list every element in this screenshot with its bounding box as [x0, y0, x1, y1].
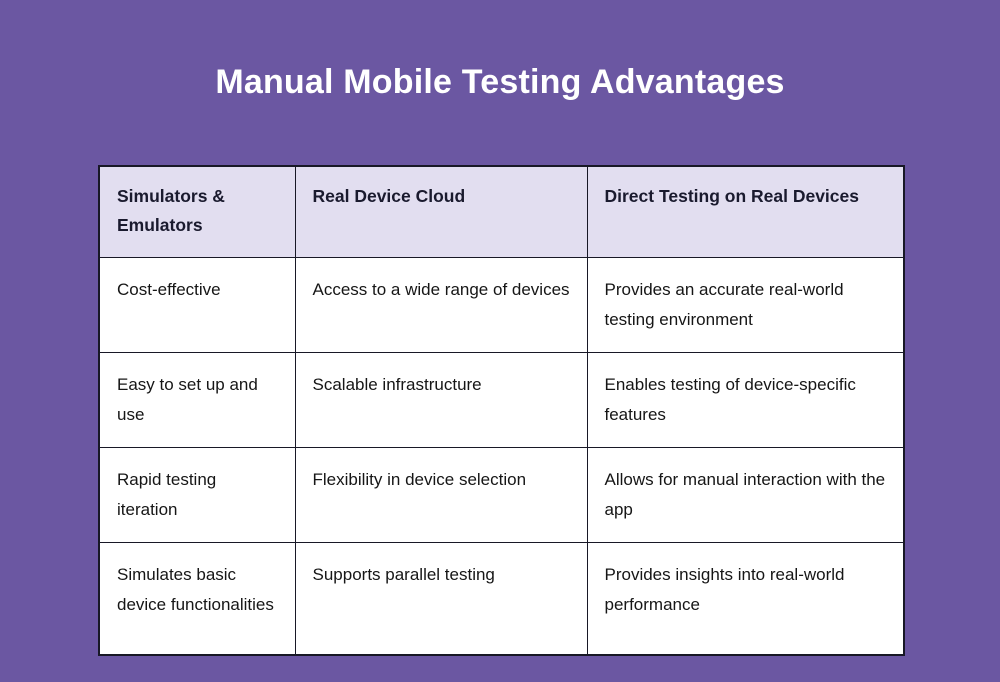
column-header-simulators-emulators: Simulators & Emulators [99, 166, 295, 258]
table-cell: Supports parallel testing [295, 543, 587, 655]
table-cell: Provides an accurate real-world testing … [587, 258, 904, 353]
column-header-direct-testing-real-devices: Direct Testing on Real Devices [587, 166, 904, 258]
advantages-table-container: Simulators & Emulators Real Device Cloud… [98, 165, 903, 656]
table-cell: Easy to set up and use [99, 353, 295, 448]
table-cell: Simulates basic device functionalities [99, 543, 295, 655]
slide-canvas: Manual Mobile Testing Advantages Simulat… [0, 0, 1000, 682]
table-cell: Rapid testing iteration [99, 448, 295, 543]
table-row: Cost-effective Access to a wide range of… [99, 258, 904, 353]
table-cell: Access to a wide range of devices [295, 258, 587, 353]
table-cell: Provides insights into real-world perfor… [587, 543, 904, 655]
table-row: Rapid testing iteration Flexibility in d… [99, 448, 904, 543]
table-header: Simulators & Emulators Real Device Cloud… [99, 166, 904, 258]
table-cell: Allows for manual interaction with the a… [587, 448, 904, 543]
page-title: Manual Mobile Testing Advantages [0, 60, 1000, 104]
table-cell: Scalable infrastructure [295, 353, 587, 448]
table-body: Cost-effective Access to a wide range of… [99, 258, 904, 655]
table-cell: Cost-effective [99, 258, 295, 353]
table-cell: Enables testing of device-specific featu… [587, 353, 904, 448]
table-row: Simulates basic device functionalities S… [99, 543, 904, 655]
column-header-real-device-cloud: Real Device Cloud [295, 166, 587, 258]
table-cell: Flexibility in device selection [295, 448, 587, 543]
table-row: Easy to set up and use Scalable infrastr… [99, 353, 904, 448]
advantages-table: Simulators & Emulators Real Device Cloud… [98, 165, 905, 656]
table-header-row: Simulators & Emulators Real Device Cloud… [99, 166, 904, 258]
